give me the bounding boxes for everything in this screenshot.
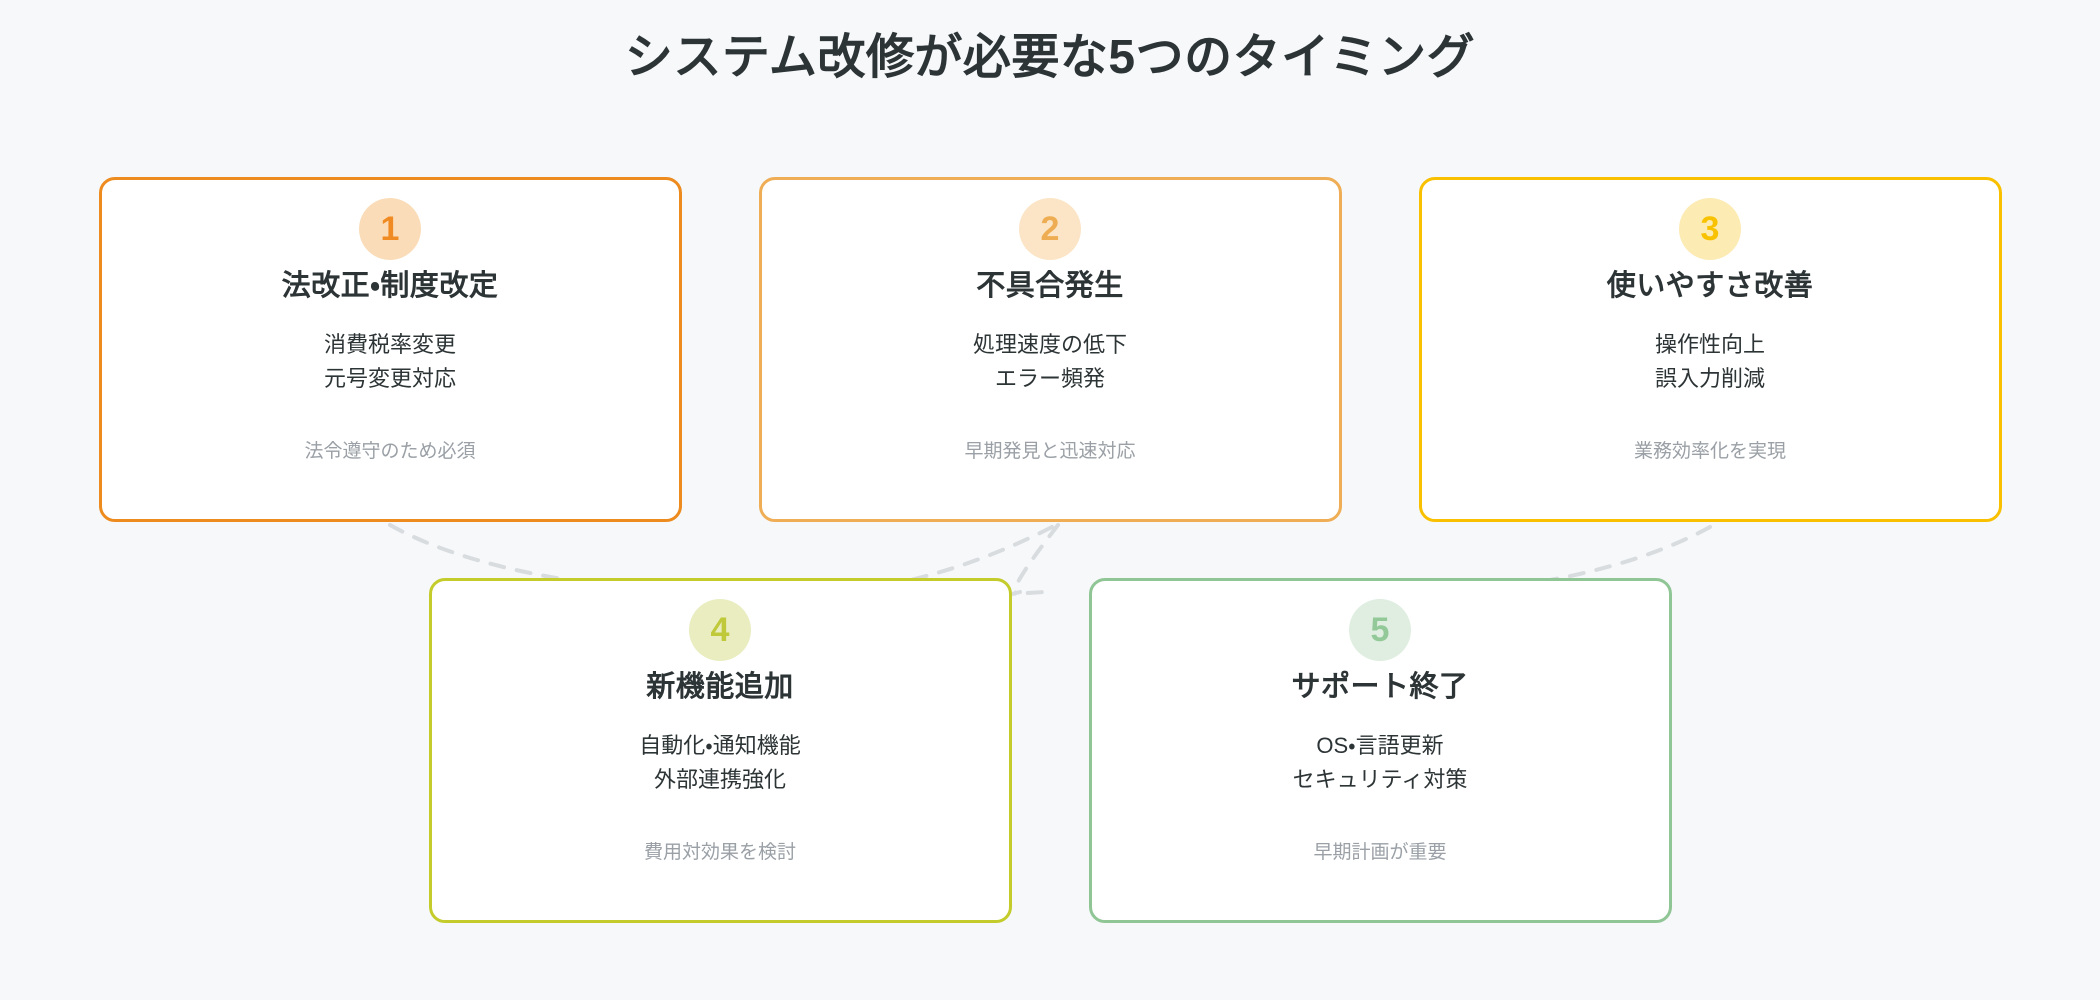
card-2-point-1: 処理速度の低下	[973, 328, 1127, 362]
card-5-number: 5	[1371, 613, 1390, 647]
card-1-number: 1	[381, 212, 400, 246]
card-5-point-1: OS・言語更新	[1293, 729, 1468, 763]
card-4[interactable]: 4 新機能追加 自動化・通知機能 外部連携強化 費用対効果を検討	[429, 578, 1012, 923]
card-1-points: 消費税率変更 元号変更対応	[324, 328, 456, 396]
card-3-number-badge: 3	[1679, 198, 1741, 260]
card-row-top: 1 法改正・制度改定 消費税率変更 元号変更対応 法令遵守のため必須 2 不具合…	[0, 177, 2100, 522]
card-2[interactable]: 2 不具合発生 処理速度の低下 エラー頻発 早期発見と迅速対応	[759, 177, 1342, 522]
infographic-canvas: システム改修が必要な5つのタイミング 1 法改正・制度改定 消費税率変更 元号変…	[0, 0, 2100, 1000]
card-2-title: 不具合発生	[976, 268, 1124, 306]
card-5-point-2: セキュリティ対策	[1293, 763, 1468, 797]
card-2-point-2: エラー頻発	[973, 362, 1127, 396]
card-1-number-badge: 1	[359, 198, 421, 260]
card-4-point-1: 自動化・通知機能	[639, 729, 800, 763]
card-2-number-badge: 2	[1019, 198, 1081, 260]
card-3-number: 3	[1701, 212, 1720, 246]
card-5-title: サポート終了	[1291, 669, 1468, 707]
card-5-points: OS・言語更新 セキュリティ対策	[1293, 729, 1468, 797]
card-1[interactable]: 1 法改正・制度改定 消費税率変更 元号変更対応 法令遵守のため必須	[99, 177, 682, 522]
card-1-point-1: 消費税率変更	[324, 328, 456, 362]
card-4-number-badge: 4	[689, 599, 751, 661]
page-title: システム改修が必要な5つのタイミング	[0, 28, 2100, 88]
card-row-bottom: 4 新機能追加 自動化・通知機能 外部連携強化 費用対効果を検討 5 サポート終…	[0, 578, 2100, 923]
card-2-number: 2	[1041, 212, 1060, 246]
card-1-note: 法令遵守のため必須	[102, 439, 679, 466]
card-1-point-2: 元号変更対応	[324, 362, 456, 396]
card-4-number: 4	[711, 613, 730, 647]
card-1-title: 法改正・制度改定	[282, 268, 499, 306]
card-5-number-badge: 5	[1349, 599, 1411, 661]
card-3-point-1: 操作性向上	[1655, 328, 1765, 362]
card-4-title: 新機能追加	[646, 669, 794, 707]
card-5-note: 早期計画が重要	[1092, 840, 1669, 867]
card-5[interactable]: 5 サポート終了 OS・言語更新 セキュリティ対策 早期計画が重要	[1089, 578, 1672, 923]
card-4-point-2: 外部連携強化	[639, 763, 800, 797]
card-2-note: 早期発見と迅速対応	[762, 439, 1339, 466]
card-3-title: 使いやすさ改善	[1607, 268, 1814, 306]
card-4-points: 自動化・通知機能 外部連携強化	[639, 729, 800, 797]
card-2-points: 処理速度の低下 エラー頻発	[973, 328, 1127, 396]
card-4-note: 費用対効果を検討	[432, 840, 1009, 867]
card-3[interactable]: 3 使いやすさ改善 操作性向上 誤入力削減 業務効率化を実現	[1419, 177, 2002, 522]
card-3-note: 業務効率化を実現	[1422, 439, 1999, 466]
card-3-point-2: 誤入力削減	[1655, 362, 1765, 396]
card-3-points: 操作性向上 誤入力削減	[1655, 328, 1765, 396]
